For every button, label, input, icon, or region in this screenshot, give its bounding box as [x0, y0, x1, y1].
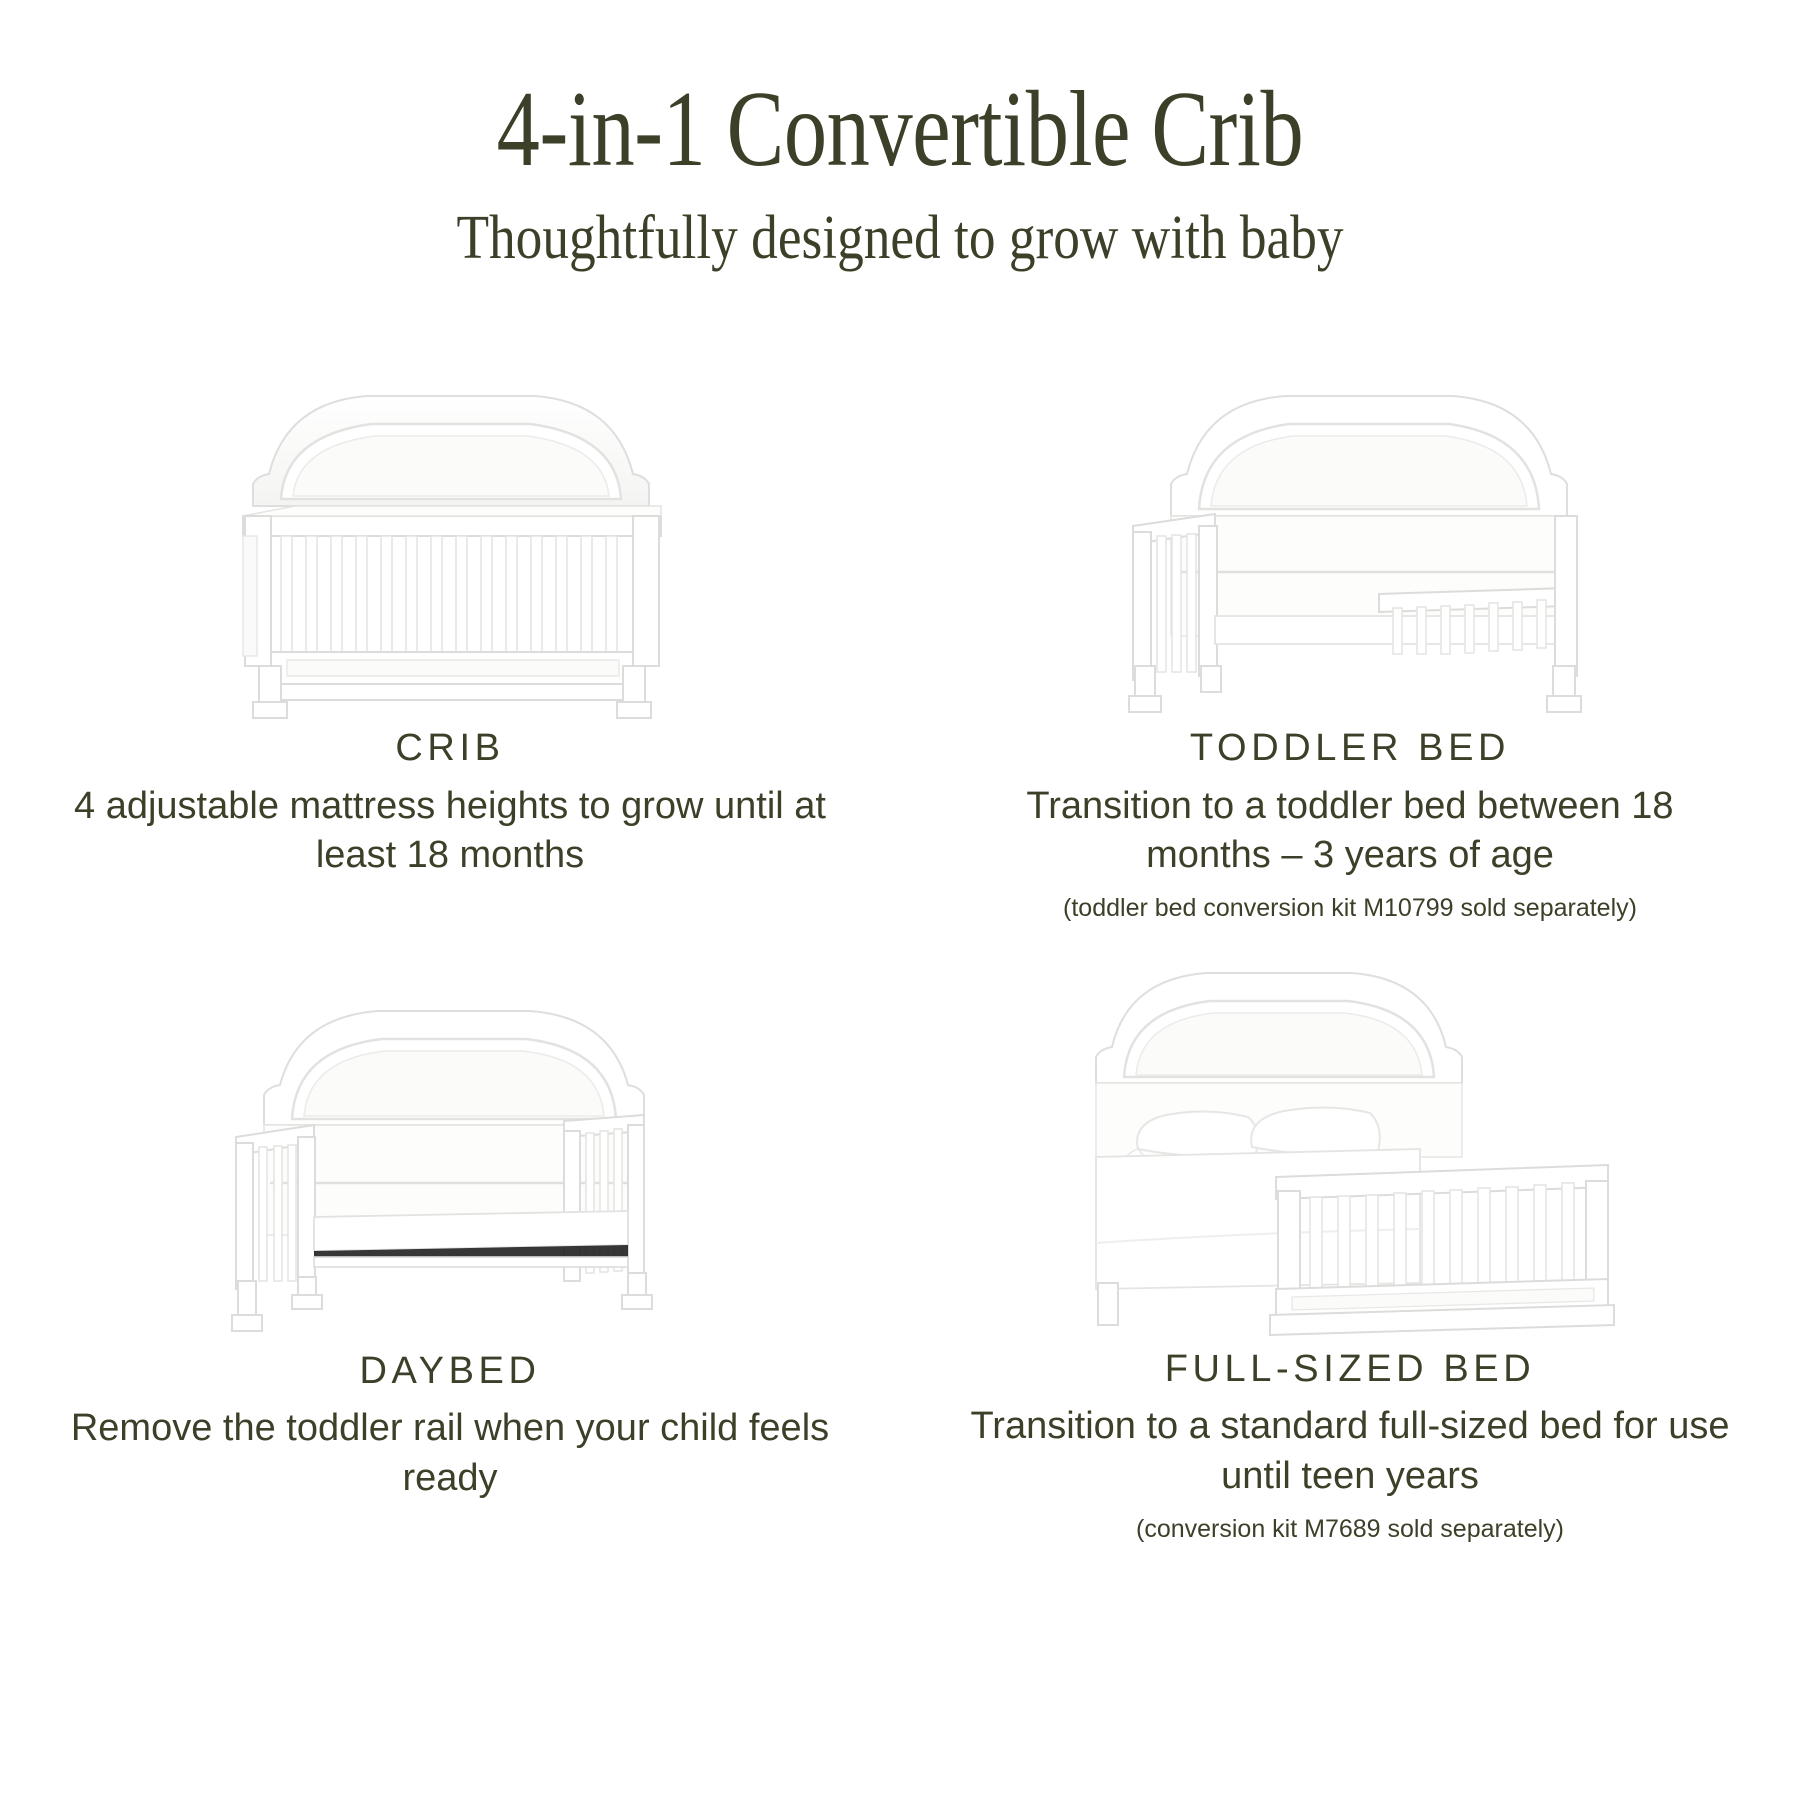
crib-caption-title: CRIB [0, 726, 900, 772]
crib-illustration [235, 366, 665, 726]
panel-daybed: DAYBED Remove the toddler rail when your… [0, 925, 900, 1546]
full-sized-bed-figure [900, 943, 1800, 1343]
toddler-bed-illustration [1115, 366, 1585, 726]
panel-toddler-bed: TODDLER BED Transition to a toddler bed … [900, 352, 1800, 925]
header: 4-in-1 Convertible Crib Thoughtfully des… [0, 0, 1800, 273]
toddler-bed-caption-note: (toddler bed conversion kit M10799 sold … [900, 892, 1800, 925]
crib-caption: CRIB 4 adjustable mattress heights to gr… [0, 726, 900, 880]
daybed-illustration [230, 995, 670, 1345]
full-sized-bed-caption: FULL-SIZED BED Transition to a standard … [900, 1347, 1800, 1546]
crib-caption-body: 4 adjustable mattress heights to grow un… [0, 782, 900, 881]
full-sized-bed-caption-body: Transition to a standard full-sized bed … [900, 1402, 1800, 1501]
page-subtitle: Thoughtfully designed to grow with baby [126, 204, 1674, 272]
full-sized-bed-caption-title: FULL-SIZED BED [900, 1347, 1800, 1393]
full-sized-bed-caption-note: (conversion kit M7689 sold separately) [900, 1513, 1800, 1546]
daybed-caption: DAYBED Remove the toddler rail when your… [0, 1349, 900, 1503]
crib-figure [0, 356, 900, 726]
page-title: 4-in-1 Convertible Crib [180, 74, 1620, 186]
panel-crib: CRIB 4 adjustable mattress heights to gr… [0, 352, 900, 925]
toddler-bed-caption-body: Transition to a toddler bed between 18 m… [900, 782, 1800, 881]
daybed-figure [0, 985, 900, 1345]
toddler-bed-caption: TODDLER BED Transition to a toddler bed … [900, 726, 1800, 925]
toddler-bed-figure [900, 356, 1800, 726]
full-sized-bed-illustration [1080, 953, 1620, 1343]
conversion-modes-grid: CRIB 4 adjustable mattress heights to gr… [0, 352, 1800, 1546]
toddler-bed-caption-title: TODDLER BED [900, 726, 1800, 772]
daybed-caption-title: DAYBED [0, 1349, 900, 1395]
panel-full-sized-bed: FULL-SIZED BED Transition to a standard … [900, 925, 1800, 1546]
infographic-page: 4-in-1 Convertible Crib Thoughtfully des… [0, 0, 1800, 1800]
daybed-caption-body: Remove the toddler rail when your child … [0, 1404, 900, 1503]
